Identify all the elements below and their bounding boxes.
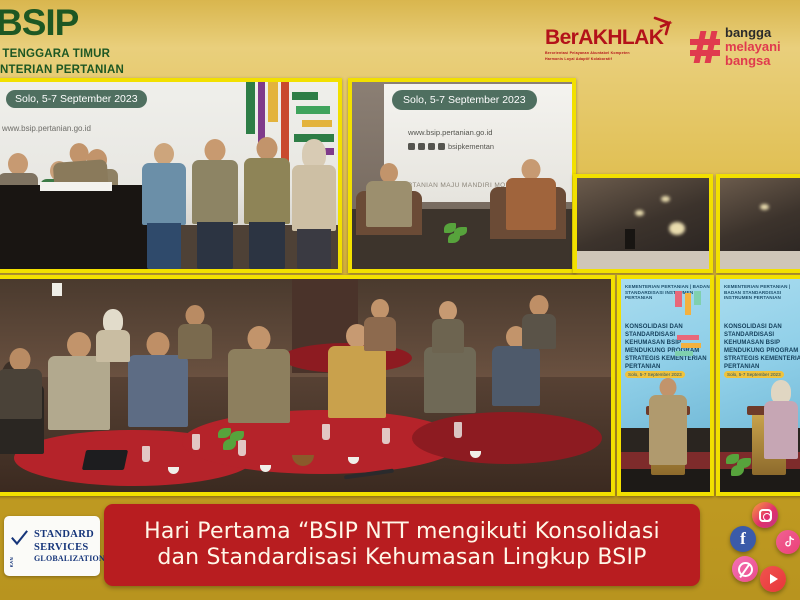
wall-sign (52, 283, 62, 296)
panelist-left-figure (366, 163, 412, 225)
attendee-figure (0, 348, 42, 418)
bsip-ministry-line: KEMENTERIAN PERTANIAN (0, 64, 186, 76)
podium-speaker-photo-1: KEMENTERIAN PERTANIAN | BADAN STANDARDIS… (617, 275, 714, 496)
attendee-figure (178, 305, 212, 359)
person-figure (192, 139, 238, 269)
photo1-url: www.bsip.pertanian.go.id (2, 124, 91, 133)
bangga-text: bangga melayani bangsa (725, 26, 781, 68)
cert-line-2: SERVICES (34, 541, 105, 554)
bsip-acronym: BSIP (0, 4, 78, 41)
cert-line-1: STANDARD (34, 528, 105, 541)
berakhlak-tagline-1: Berorientasi Pelayanan Akuntabel Kompete… (545, 51, 665, 56)
projection-date-2: Solo, 5-7 September 2023 (724, 371, 784, 378)
signing-ceremony-photo: Solo, 5-7 September 2023 www.bsip.pertan… (0, 78, 342, 273)
photo2-date-chip: Solo, 5-7 September 2023 (392, 90, 537, 110)
table-plant (216, 426, 246, 452)
stage-plant (724, 452, 754, 478)
projection-header-2: KEMENTERIAN PERTANIAN | BADAN STANDARDIS… (724, 284, 800, 301)
instagram-icon[interactable] (752, 502, 778, 528)
person-figure-hijab (292, 139, 336, 269)
hall-view-photo-1 (573, 174, 713, 273)
checkmark-certification-icon: KAN (9, 524, 31, 568)
berakhlak-main: AKHLAK (578, 26, 663, 49)
caption-line-1: Hari Pertama “BSIP NTT mengikuti Konsoli… (144, 519, 660, 545)
caption-line-2: dan Standardisasi Kehumasan Lingkup BSIP (144, 545, 660, 571)
berakhlak-tagline-2: Harmonis Loyal Adaptif Kolaboratif (545, 57, 665, 62)
bangga-line-3: bangsa (725, 54, 781, 68)
attendee-figure (522, 295, 556, 349)
dribbble-icon[interactable] (732, 556, 758, 582)
bangga-melayani-bangsa-logo: bangga melayani bangsa (690, 26, 781, 68)
facebook-glyph-icon (418, 143, 425, 150)
person-figure (142, 143, 186, 269)
berakhlak-logo: BerAKHLAK Berorientasi Pelayanan Akuntab… (545, 26, 665, 63)
attendee-figure-hijab (96, 309, 130, 361)
attendee-figure (432, 301, 464, 353)
berakhlak-wordmark: BerAKHLAK (545, 26, 663, 50)
photo1-date-chip: Solo, 5-7 September 2023 (6, 90, 147, 108)
hashtag-icon (690, 31, 720, 63)
projection-date-1: Solo, 5-7 September 2023 (625, 371, 685, 378)
cert-text: STANDARD SERVICES GLOBALIZATION (34, 528, 105, 565)
tiktok-icon[interactable] (776, 530, 800, 554)
photo-collage: Solo, 5-7 September 2023 www.bsip.pertan… (0, 78, 800, 496)
table-plant (440, 221, 470, 247)
bsip-region-line: NUSA TENGGARA TIMUR (0, 48, 186, 60)
cert-side-label: KAN (9, 557, 14, 567)
signing-document (40, 182, 112, 191)
twitter-glyph-icon (428, 143, 435, 150)
round-table (412, 412, 602, 464)
speaker-figure (649, 378, 687, 464)
youtube-icon[interactable] (760, 566, 786, 592)
photo2-url: www.bsip.pertanian.go.id (408, 128, 492, 137)
bangga-line-2: melayani (725, 40, 781, 54)
certification-badge: KAN STANDARD SERVICES GLOBALIZATION (4, 516, 100, 576)
attendee-figure (228, 326, 290, 422)
bottom-bar: KAN STANDARD SERVICES GLOBALIZATION Hari… (0, 496, 800, 600)
page-header: BSIP NUSA TENGGARA TIMUR KEMENTERIAN PER… (0, 0, 800, 80)
attendee-figure (364, 299, 396, 351)
bsip-brand-logo: BSIP NUSA TENGGARA TIMUR KEMENTERIAN PER… (0, 4, 186, 76)
berakhlak-prefix: Ber (545, 26, 578, 49)
instagram-glyph-icon (408, 143, 415, 150)
youtube-glyph-icon (438, 143, 445, 150)
facebook-icon[interactable]: f (730, 526, 756, 552)
hall-view-photo-2 (716, 174, 800, 273)
person-figure (244, 137, 290, 269)
panelist-right-figure (506, 159, 556, 229)
photo2-social-handle: bsipkementan (408, 142, 494, 151)
podium-speaker-photo-2: KEMENTERIAN PERTANIAN | BADAN STANDARDIS… (716, 275, 800, 496)
panel-discussion-photo: Solo, 5-7 September 2023 www.bsip.pertan… (348, 78, 576, 273)
audience-photo (0, 275, 615, 496)
projection-title-2: KONSOLIDASI DAN STANDARDISASI KEHUMASAN … (724, 323, 800, 371)
cert-line-3: GLOBALIZATION (34, 554, 105, 564)
speaker-figure-hijab (764, 380, 798, 458)
caption-banner: Hari Pertama “BSIP NTT mengikuti Konsoli… (104, 504, 700, 586)
projection-decoration (673, 291, 707, 365)
caption-text: Hari Pertama “BSIP NTT mengikuti Konsoli… (144, 519, 660, 570)
social-media-icons: f (724, 500, 798, 598)
berakhlak-swoosh-icon (653, 16, 673, 36)
bangga-line-1: bangga (725, 26, 781, 40)
photo2-social-text: bsipkementan (448, 142, 494, 151)
laptop (82, 450, 128, 470)
bsip-logo-mark: BSIP (0, 4, 186, 41)
